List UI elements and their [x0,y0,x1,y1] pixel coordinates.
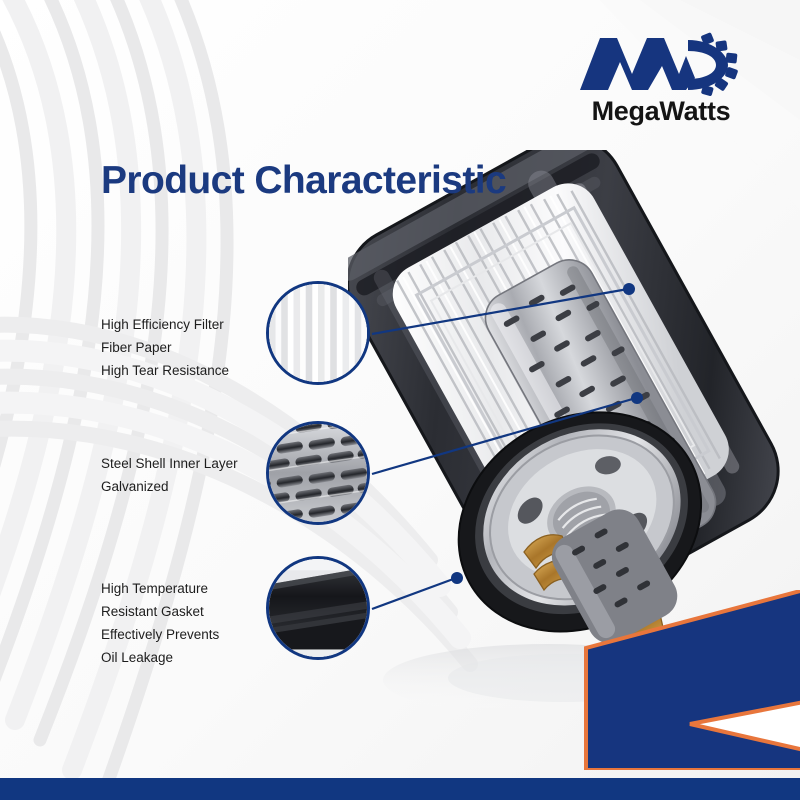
brand-wordmark: MegaWatts [566,98,756,125]
brand-logo: MegaWatts [566,32,756,125]
filter-paper-texture [269,284,367,382]
page-title: Product Characteristic [101,159,506,203]
rubber-gasket-texture [269,559,367,657]
callout-rubber-gasket [266,556,370,660]
chevron-badge [572,590,800,770]
bottom-navy-bar [0,778,800,800]
callout-galvanized-steel-mesh [266,421,370,525]
callout-filter-paper [266,281,370,385]
galvanized-mesh-texture [269,424,367,522]
poster-canvas: High Efficiency Filter Fiber Paper High … [0,0,800,800]
megawatts-mm-gear-icon [576,32,746,96]
